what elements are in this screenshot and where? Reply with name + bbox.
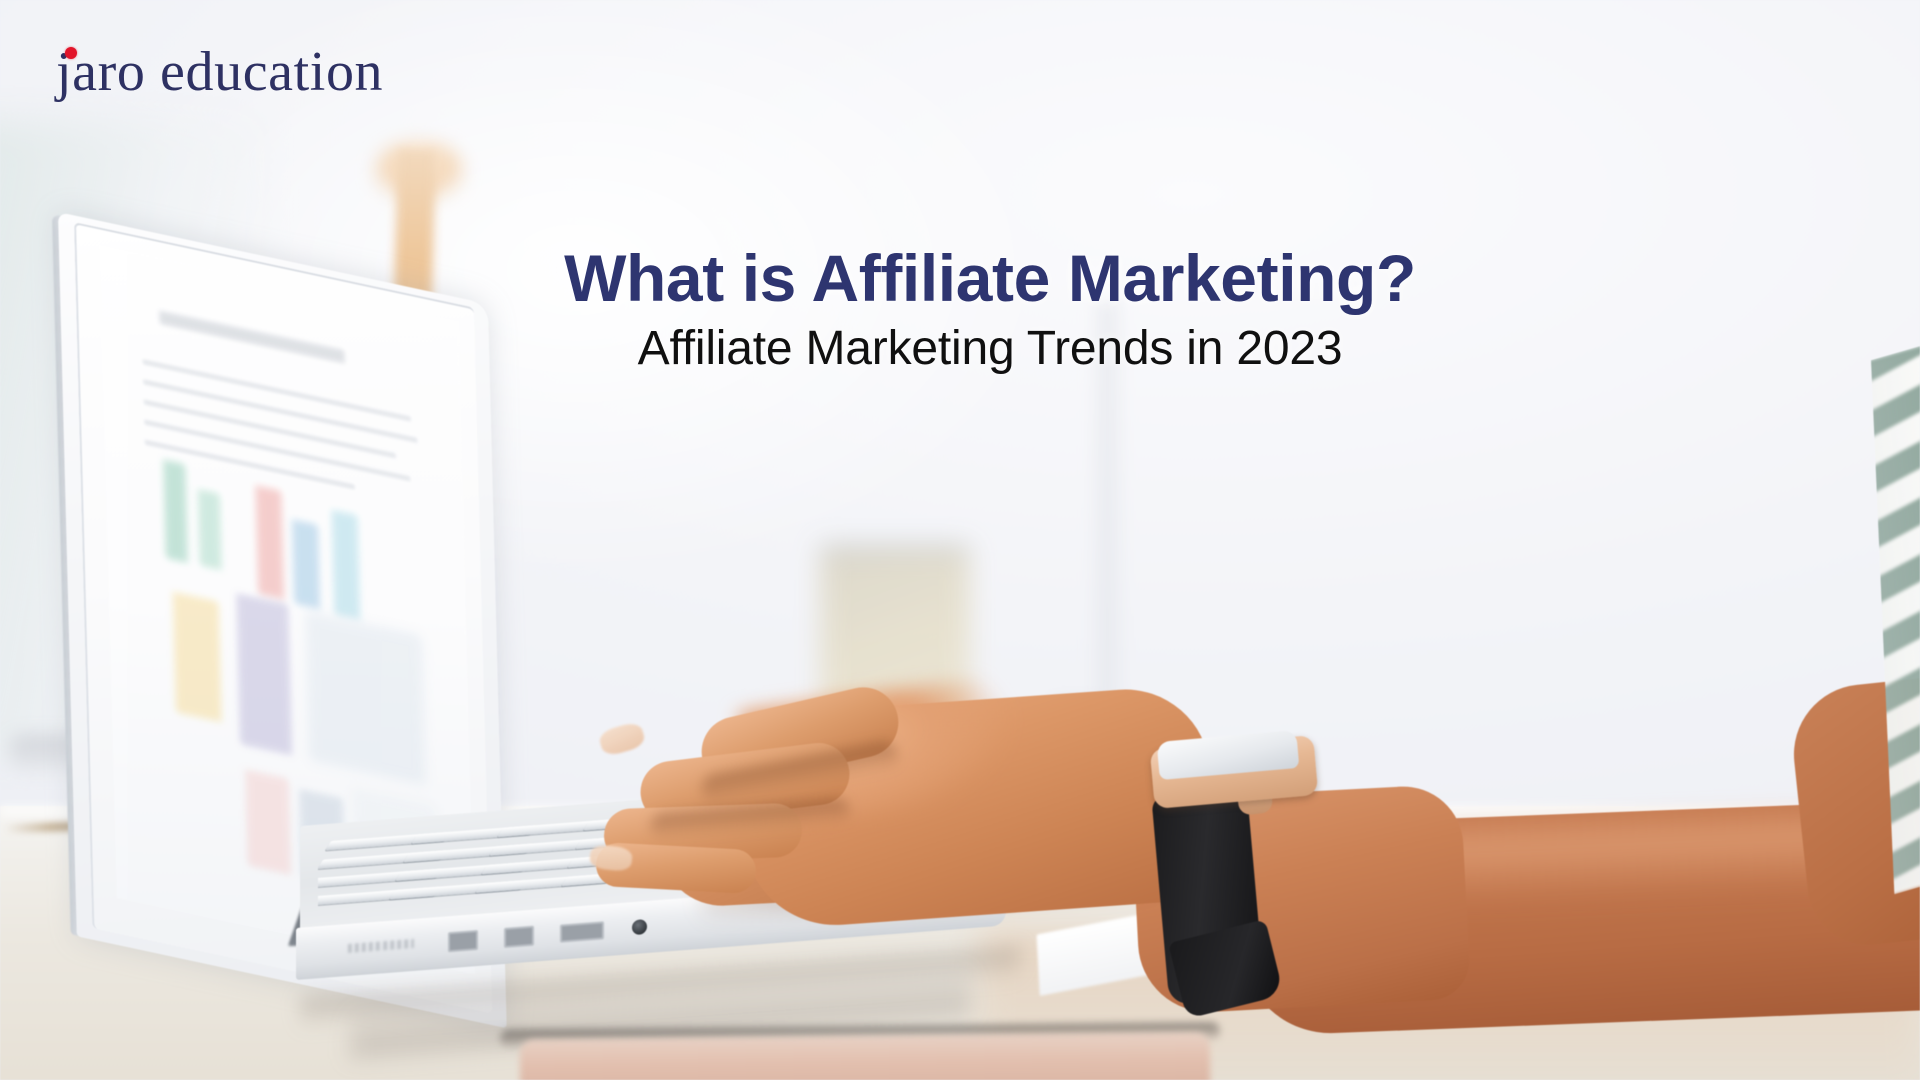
page-title: What is Affiliate Marketing?: [60, 244, 1920, 313]
brand-logo-text: jaro education: [56, 44, 383, 100]
fingernail: [597, 720, 646, 757]
person-arm: [0, 0, 1920, 1080]
red-dot-icon: [65, 47, 77, 59]
banner-canvas: jaro education What is Affiliate Marketi…: [0, 0, 1920, 1080]
page-subtitle: Affiliate Marketing Trends in 2023: [60, 323, 1920, 376]
headline-block: What is Affiliate Marketing? Affiliate M…: [0, 244, 1920, 375]
background-photo: [0, 0, 1920, 1080]
brand-logo[interactable]: jaro education: [56, 44, 383, 100]
phone-on-desk: [520, 1032, 1211, 1080]
